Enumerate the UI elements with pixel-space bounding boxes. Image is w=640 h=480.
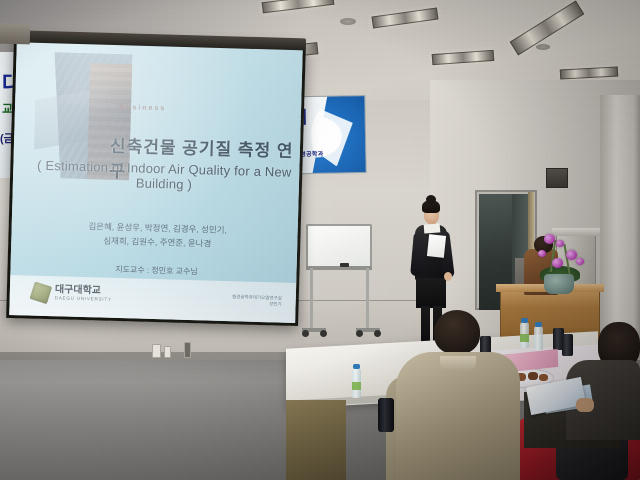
presenter-notes [427, 234, 446, 258]
whiteboard-caster [320, 330, 327, 337]
presenter-hand [444, 272, 452, 281]
audience-front-head [434, 310, 480, 354]
bottle-label [352, 382, 361, 390]
projection-screen: Business 신축건물 공기질 측정 연구 ( Estimation of … [6, 36, 306, 326]
presentation-photo: 대 교 (금) 발표회 표회 대구대학교 환경공학과 Business 신축건물… [0, 0, 640, 480]
university-logo-mark-icon [30, 282, 53, 305]
whiteboard-leg [310, 268, 313, 330]
wall-mounted-box [546, 168, 568, 188]
bottle-cap [353, 364, 360, 369]
whiteboard-leg [366, 268, 369, 330]
whiteboard-marker[interactable] [340, 263, 349, 267]
bottle-label [520, 334, 529, 342]
presentation-slide: Business 신축건물 공기질 측정 연구 ( Estimation of … [9, 39, 303, 323]
slide-university-logo: 대구대학교 DAEGU UNIVERSITY [32, 284, 113, 304]
presenter-hair-bun [426, 195, 436, 204]
slide-footnote: 환경공학과대기오염연구실 성민기 [232, 294, 282, 309]
orchid-bloom [556, 240, 564, 247]
beverage-can[interactable] [378, 398, 394, 432]
logo-name-en: DAEGU UNIVERSITY [55, 295, 112, 303]
whiteboard-marker-tray [306, 266, 372, 270]
foreground-chair[interactable] [286, 400, 346, 480]
lectern-top [552, 228, 600, 236]
mobile-whiteboard [306, 224, 372, 268]
presenter-collar [424, 223, 441, 233]
bottle-cap [535, 322, 542, 327]
whiteboard-caster [302, 330, 309, 337]
wall-outlet [184, 342, 191, 358]
orchid-pot [544, 274, 574, 294]
slide-subtitle: ( Estimation of Indoor Air Quality for a… [25, 157, 303, 195]
slide-decor-label: Business [119, 104, 166, 112]
orchid-bloom [576, 258, 584, 265]
slide-footnote-line2: 성민기 [232, 300, 282, 308]
wall-outlet [164, 346, 171, 358]
audience-reader-hand [576, 398, 594, 412]
wall-outlet [152, 344, 161, 358]
whiteboard-caster [356, 330, 363, 337]
screen-mount-bracket [0, 24, 30, 45]
presenter-skirt [416, 278, 446, 308]
audience-front-collar [440, 356, 476, 372]
water-bottle[interactable] [534, 326, 543, 352]
bottle-cap [521, 318, 528, 323]
ceiling-vent [536, 44, 550, 50]
ceiling-vent [340, 18, 356, 25]
snack-item [539, 374, 548, 381]
snack-item [528, 372, 538, 380]
orchid-bloom [538, 250, 546, 257]
whiteboard-caster [374, 330, 381, 337]
beverage-can[interactable] [562, 334, 573, 356]
slide-authors: 김은혜, 윤성우, 박정연, 김경우, 성민기, 심재희, 김원수, 주연준, … [21, 217, 294, 253]
orchid-bloom [566, 250, 577, 260]
orchid-bloom [544, 234, 555, 244]
orchid-bloom [552, 258, 563, 268]
